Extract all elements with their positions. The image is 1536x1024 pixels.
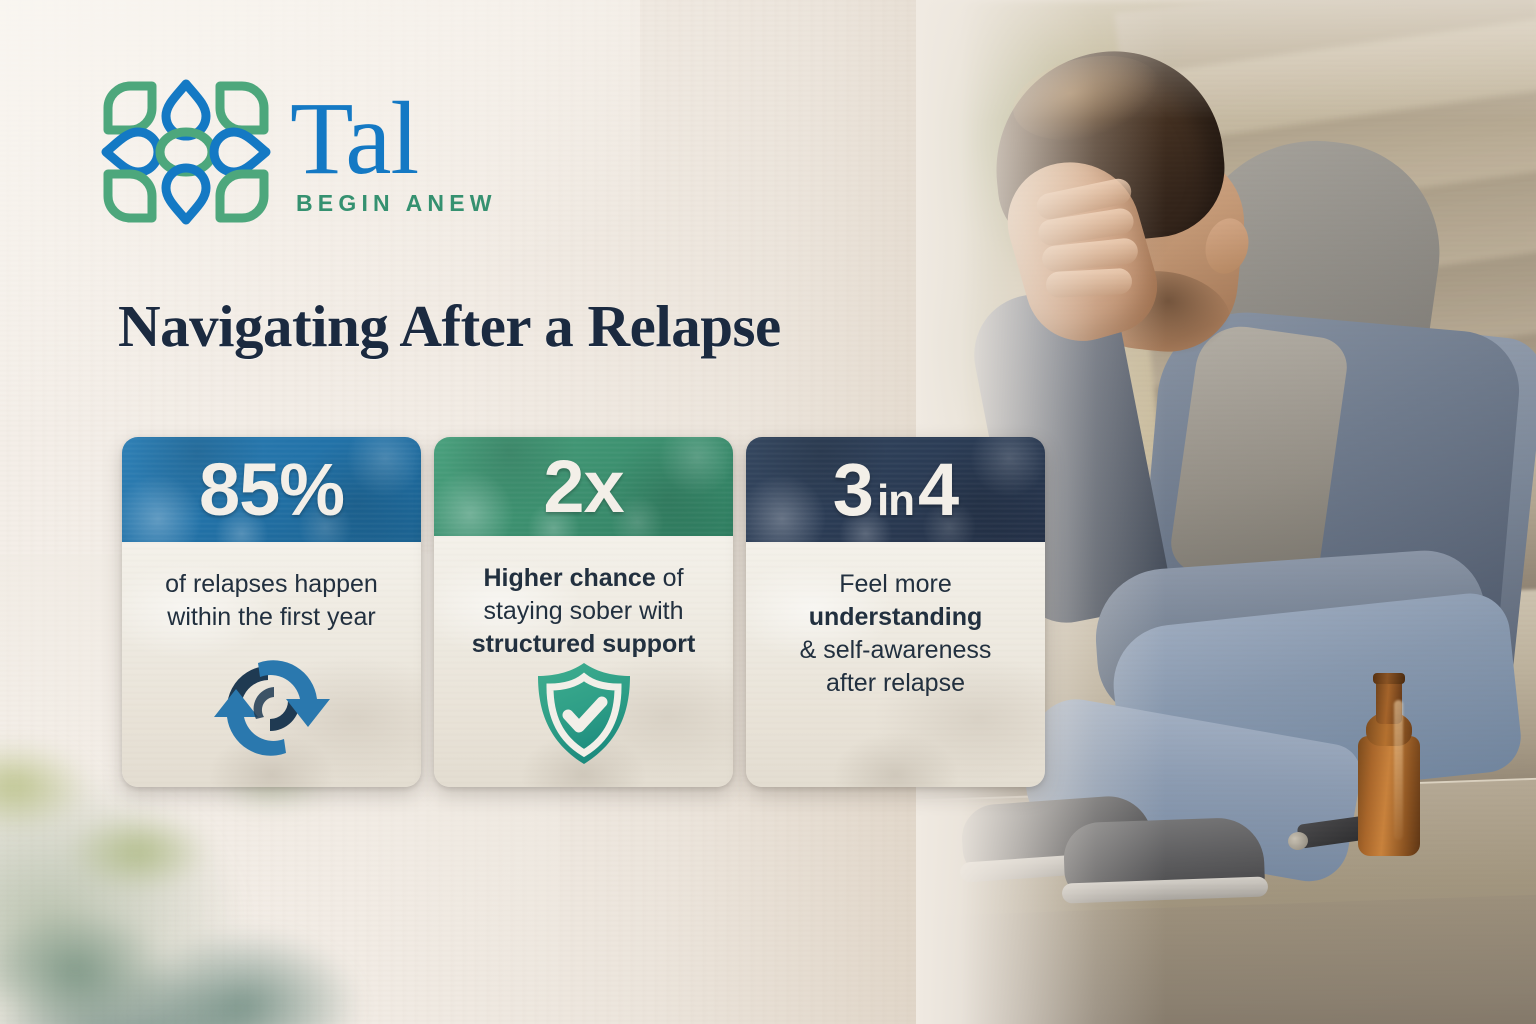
card-line: after relapse — [826, 669, 965, 697]
stat-card-text: Higher chance of staying sober with stru… — [472, 562, 696, 661]
stat-card-2x[interactable]: 2x Higher chance of staying sober with s… — [434, 437, 733, 787]
stat-card-header: 3in4 — [746, 437, 1045, 542]
stat-card-3-in-4[interactable]: 3in4 Feel more understanding & self-awar… — [746, 437, 1045, 787]
shield-check-icon — [532, 661, 636, 767]
stat-cards: 85% of relapses happen within the first … — [122, 437, 1045, 787]
page-title: Navigating After a Relapse — [118, 292, 781, 361]
stat-card-85-percent[interactable]: 85% of relapses happen within the first … — [122, 437, 421, 787]
tal-petal-grid-logo-icon — [100, 78, 272, 226]
stat-numerator: 3 — [833, 453, 873, 527]
stat-value: 85% — [199, 453, 344, 527]
card-line: & self-awareness — [800, 636, 992, 664]
card-line: of — [656, 564, 684, 592]
brand-tagline: BEGIN ANEW — [296, 190, 497, 217]
stat-value: 2x — [543, 450, 623, 524]
stat-card-header: 85% — [122, 437, 421, 542]
card-line: of relapses happen — [165, 570, 378, 598]
card-line: within the first year — [167, 603, 375, 631]
stat-card-text: Feel more understanding & self-awareness… — [800, 568, 992, 700]
stat-value: 3in4 — [833, 453, 958, 527]
stat-card-body: Higher chance of staying sober with stru… — [434, 536, 733, 787]
stat-denominator: 4 — [918, 453, 958, 527]
stat-card-body: Feel more understanding & self-awareness… — [746, 542, 1045, 787]
card-line-bold: Higher chance — [483, 564, 655, 592]
stat-card-text: of relapses happen within the first year — [165, 568, 378, 634]
card-line-bold: structured support — [472, 630, 696, 658]
brand-wordmark: Tal — [290, 91, 418, 187]
stat-card-body: of relapses happen within the first year — [122, 542, 421, 787]
brand-logo[interactable]: Tal BEGIN ANEW — [100, 78, 497, 226]
cycle-arrows-icon — [212, 649, 332, 767]
brand-wordmark-group: Tal BEGIN ANEW — [290, 91, 497, 218]
infographic-canvas: Tal BEGIN ANEW Navigating After a Relaps… — [0, 0, 1536, 1024]
card-line-bold: understanding — [809, 603, 983, 631]
stat-card-header: 2x — [434, 437, 733, 536]
card-line: staying sober with — [483, 597, 683, 625]
card-line: Feel more — [839, 570, 952, 598]
stat-connector: in — [873, 479, 918, 523]
